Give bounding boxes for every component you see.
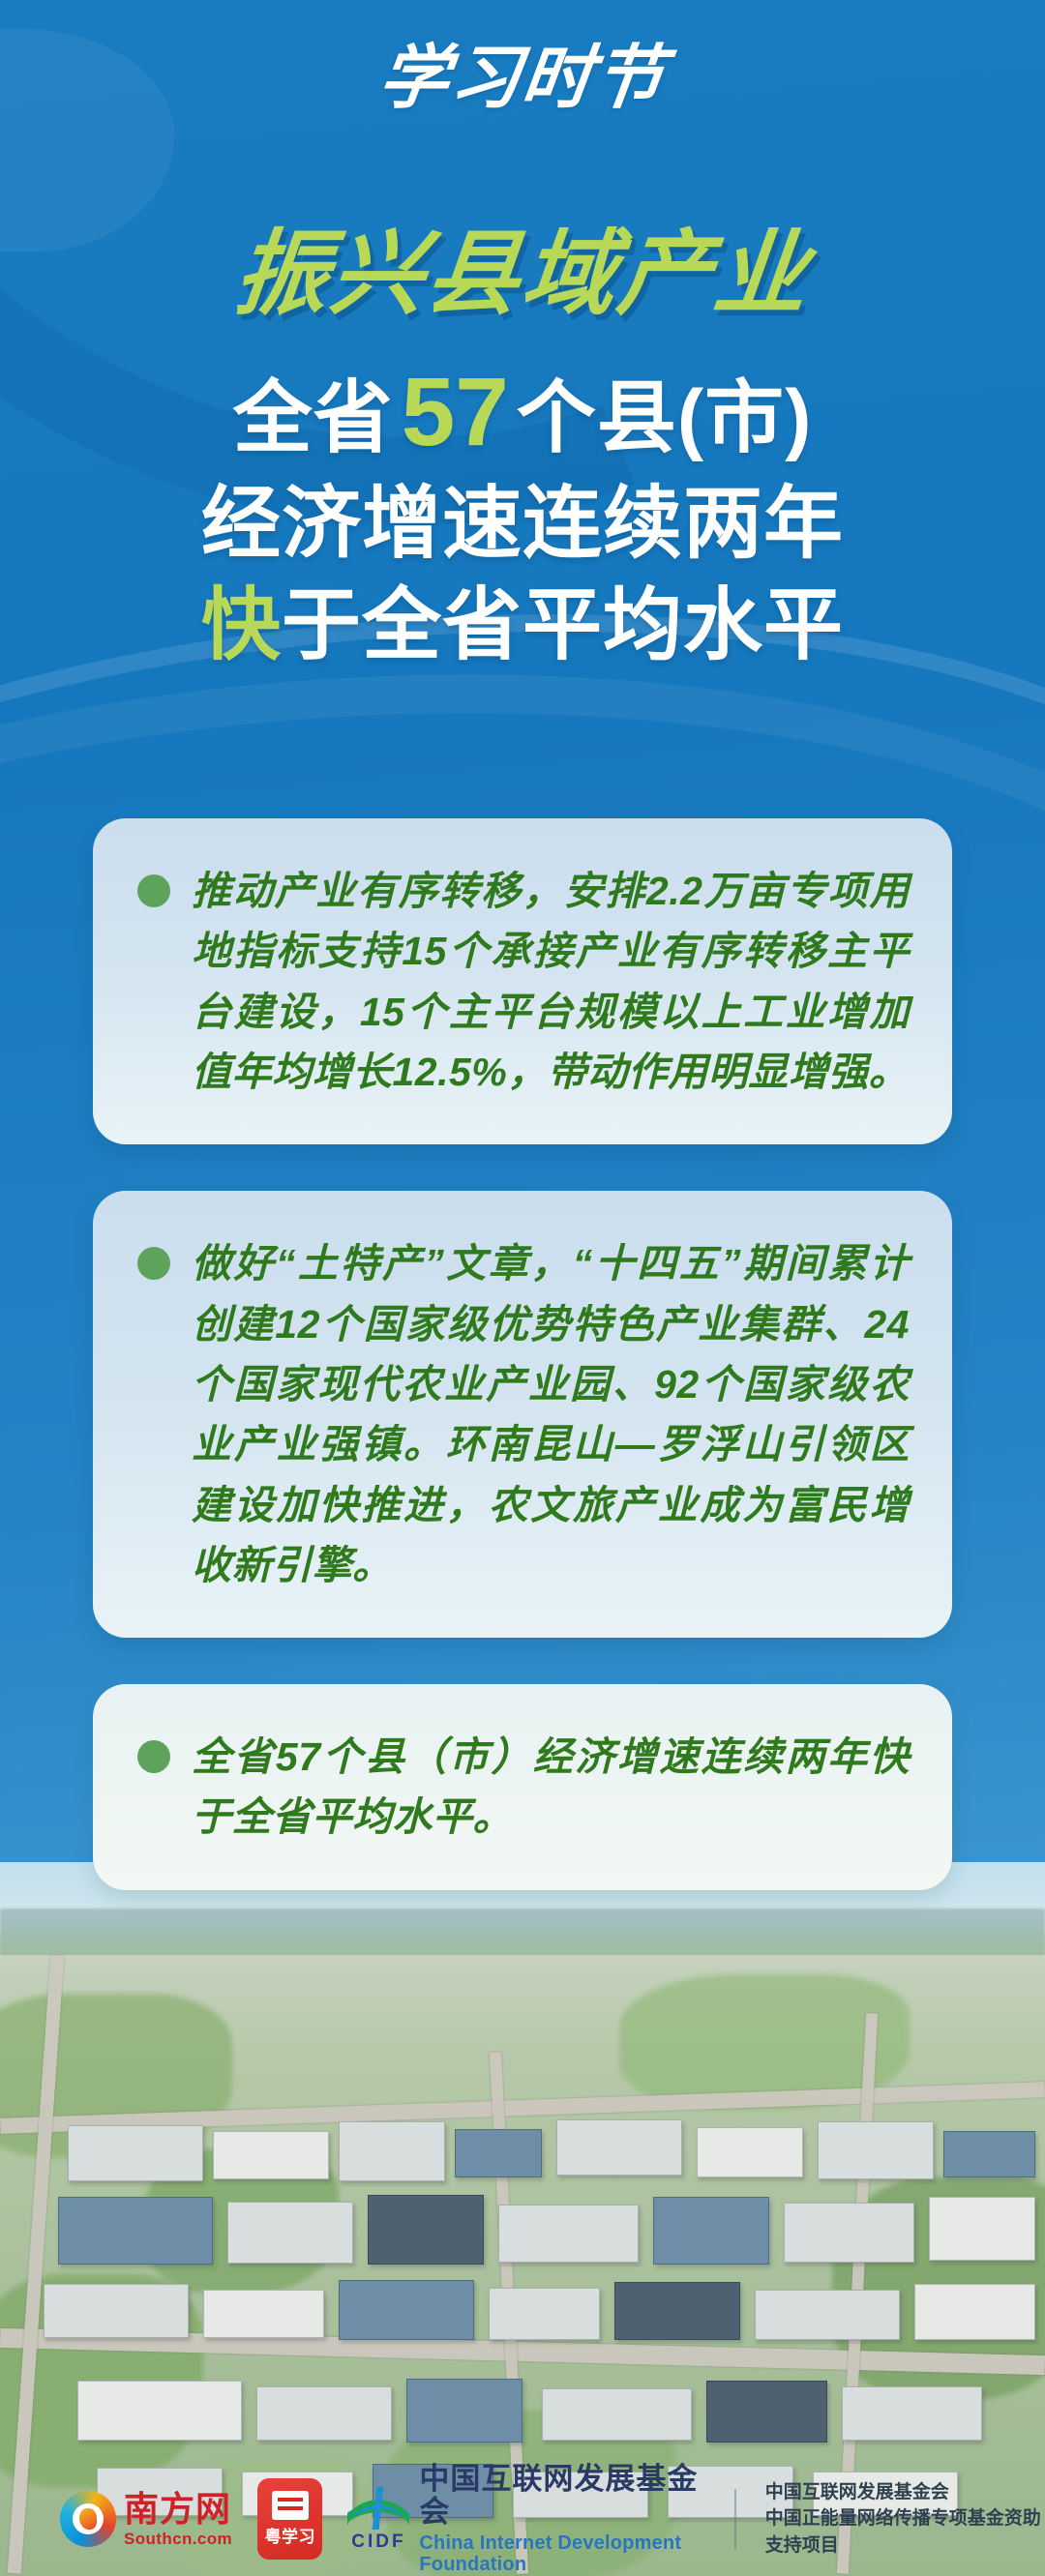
headline-line-3: 经济增速连续两年 bbox=[0, 474, 1045, 576]
support-line-1: 中国互联网发展基金会 bbox=[765, 2479, 1045, 2506]
cidf-globe-icon: CIDF bbox=[347, 2485, 409, 2553]
bullet-dot-icon bbox=[137, 874, 170, 907]
card-1-text: 推动产业有序转移，安排2.2万亩专项用地指标支持15个承接产业有序转移主平台建设… bbox=[192, 861, 910, 1102]
book-icon bbox=[272, 2491, 309, 2520]
southcn-name-cn: 南方网 bbox=[124, 2493, 232, 2528]
infographic-poster: 学习时节 振兴县域产业 全省57个县(市) 经济增速连续两年 快于全省平均水平 … bbox=[0, 0, 1045, 2576]
southcn-name-en: Southcn.com bbox=[124, 2531, 232, 2547]
yuexuexi-logo[interactable]: 粤学习 bbox=[257, 2478, 322, 2560]
brand-title: 学习时节 bbox=[375, 43, 671, 112]
yuexuexi-label: 粤学习 bbox=[264, 2523, 315, 2547]
content-card-3: 全省57个县（市）经济增速连续两年快于全省平均水平。 bbox=[93, 1684, 952, 1890]
cidf-name-en: China Internet Development Foundation bbox=[419, 2532, 705, 2575]
footer-support-text: 中国互联网发展基金会 中国正能量网络传播专项基金资助支持项目 bbox=[765, 2479, 1045, 2560]
cidf-name-cn: 中国互联网发展基金会 bbox=[419, 2463, 705, 2529]
content-card-2: 做好“土特产”文章，“十四五”期间累计创建12个国家级优势特色产业集群、24个国… bbox=[93, 1191, 952, 1638]
support-line-2: 中国正能量网络传播专项基金资助支持项目 bbox=[765, 2505, 1045, 2559]
headline-county-count: 57 bbox=[394, 358, 517, 466]
headline-emphasis-fast: 快 bbox=[201, 581, 282, 669]
brand-header: 学习时节 bbox=[0, 43, 1045, 112]
card-2-text: 做好“土特产”文章，“十四五”期间累计创建12个国家级优势特色产业集群、24个国… bbox=[192, 1233, 910, 1595]
southcn-logo[interactable]: 南方网 Southcn.com bbox=[60, 2491, 232, 2547]
bullet-dot-icon bbox=[137, 1740, 170, 1773]
headline-line-4: 快于全省平均水平 bbox=[0, 576, 1045, 677]
cidf-abbr: CIDF bbox=[351, 2532, 405, 2553]
headline-suffix: 个县(市) bbox=[517, 374, 813, 462]
footer-logos: 南方网 Southcn.com 粤学习 CIDF 中国互联网发展基金会 Chin… bbox=[0, 2462, 1045, 2576]
headline-line-4-rest: 于全省平均水平 bbox=[282, 581, 844, 669]
headline-main: 振兴县域产业 bbox=[0, 224, 1045, 325]
footer-divider bbox=[734, 2489, 736, 2549]
southcn-mark-icon bbox=[60, 2491, 116, 2547]
cidf-logo[interactable]: CIDF 中国互联网发展基金会 China Internet Developme… bbox=[347, 2463, 705, 2575]
content-card-1: 推动产业有序转移，安排2.2万亩专项用地指标支持15个承接产业有序转移主平台建设… bbox=[93, 818, 952, 1144]
content-cards: 推动产业有序转移，安排2.2万亩专项用地指标支持15个承接产业有序转移主平台建设… bbox=[0, 818, 1045, 1937]
card-3-text: 全省57个县（市）经济增速连续两年快于全省平均水平。 bbox=[192, 1727, 910, 1848]
headline-block: 振兴县域产业 全省57个县(市) 经济增速连续两年 快于全省平均水平 bbox=[0, 224, 1045, 677]
headline-prefix: 全省 bbox=[233, 374, 394, 462]
bullet-dot-icon bbox=[137, 1247, 170, 1280]
headline-line-2: 全省57个县(市) bbox=[0, 350, 1045, 474]
